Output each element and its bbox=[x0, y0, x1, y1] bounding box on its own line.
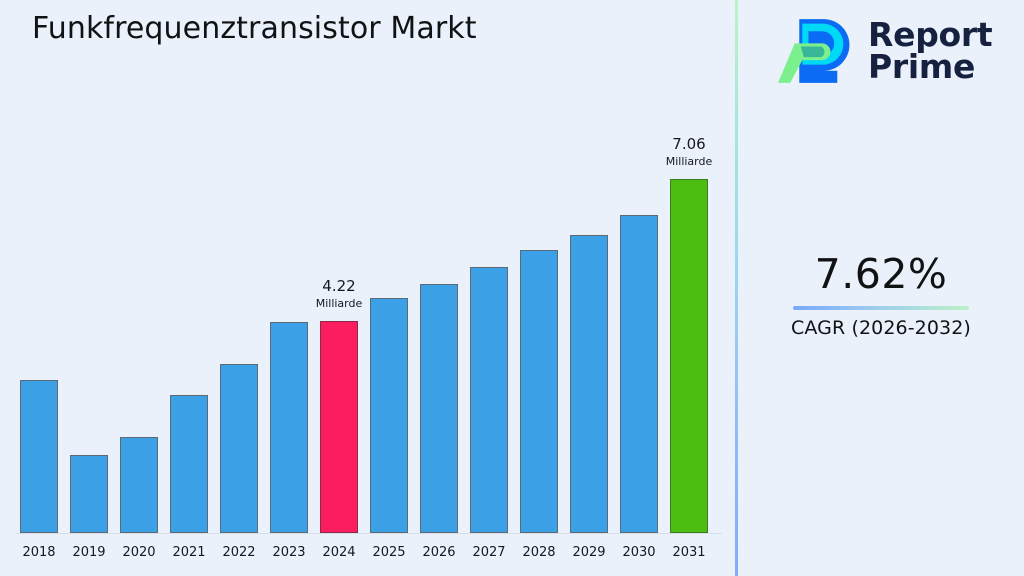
cagr-label: CAGR (2026-2032) bbox=[738, 317, 1024, 339]
brand-logo: Report Prime bbox=[778, 12, 992, 90]
bar-group-2026: 2026 bbox=[414, 0, 464, 576]
bar-2029[interactable] bbox=[570, 235, 608, 533]
bar-2031[interactable] bbox=[670, 179, 708, 533]
cagr-block: 7.62% CAGR (2026-2032) bbox=[738, 252, 1024, 339]
bar-group-2031: Milliarde7.062031 bbox=[664, 0, 714, 576]
x-axis-label-2026: 2026 bbox=[414, 545, 464, 560]
x-axis-label-2020: 2020 bbox=[114, 545, 164, 560]
chart-infographic: Funkfrequenztransistor Markt 20182019202… bbox=[0, 0, 1024, 576]
bar-group-2028: 2028 bbox=[514, 0, 564, 576]
x-axis-label-2022: 2022 bbox=[214, 545, 264, 560]
x-axis-label-2021: 2021 bbox=[164, 545, 214, 560]
x-axis-label-2023: 2023 bbox=[264, 545, 314, 560]
right-panel: Report Prime 7.62% CAGR (2026-2032) bbox=[738, 0, 1024, 576]
bar-2019[interactable] bbox=[70, 455, 108, 533]
x-axis-label-2028: 2028 bbox=[514, 545, 564, 560]
bar-group-2019: 2019 bbox=[64, 0, 114, 576]
brand-name: Report Prime bbox=[868, 19, 992, 84]
bar-2025[interactable] bbox=[370, 298, 408, 533]
bar-group-2029: 2029 bbox=[564, 0, 614, 576]
bar-unit-2031: Milliarde bbox=[664, 156, 714, 168]
x-axis-label-2030: 2030 bbox=[614, 545, 664, 560]
bar-2020[interactable] bbox=[120, 437, 158, 533]
x-axis-label-2019: 2019 bbox=[64, 545, 114, 560]
x-axis-label-2029: 2029 bbox=[564, 545, 614, 560]
bar-2026[interactable] bbox=[420, 284, 458, 533]
bar-2024[interactable] bbox=[320, 321, 358, 533]
bar-2028[interactable] bbox=[520, 250, 558, 533]
bar-group-2021: 2021 bbox=[164, 0, 214, 576]
bar-chart: 201820192020202120222023Milliarde4.22202… bbox=[0, 0, 735, 576]
cagr-divider bbox=[793, 306, 969, 310]
bar-2027[interactable] bbox=[470, 267, 508, 533]
bar-group-2024: Milliarde4.222024 bbox=[314, 0, 364, 576]
bar-group-2027: 2027 bbox=[464, 0, 514, 576]
x-axis-label-2025: 2025 bbox=[364, 545, 414, 560]
bar-group-2018: 2018 bbox=[14, 0, 64, 576]
x-axis-label-2024: 2024 bbox=[314, 545, 364, 560]
bar-group-2022: 2022 bbox=[214, 0, 264, 576]
bar-value-2031: 7.06 bbox=[664, 137, 714, 153]
bar-2023[interactable] bbox=[270, 322, 308, 533]
x-axis-label-2018: 2018 bbox=[14, 545, 64, 560]
bar-series: 201820192020202120222023Milliarde4.22202… bbox=[0, 0, 735, 576]
bar-2022[interactable] bbox=[220, 364, 258, 533]
brand-name-line2: Prime bbox=[868, 51, 992, 83]
x-axis-label-2031: 2031 bbox=[664, 545, 714, 560]
bar-group-2020: 2020 bbox=[114, 0, 164, 576]
report-prime-r-logo-icon bbox=[778, 12, 854, 90]
bar-unit-2024: Milliarde bbox=[314, 298, 364, 310]
bar-2018[interactable] bbox=[20, 380, 58, 533]
bar-value-2024: 4.22 bbox=[314, 279, 364, 295]
bar-2021[interactable] bbox=[170, 395, 208, 533]
cagr-value: 7.62% bbox=[738, 252, 1024, 297]
bar-2030[interactable] bbox=[620, 215, 658, 533]
x-axis-label-2027: 2027 bbox=[464, 545, 514, 560]
bar-group-2025: 2025 bbox=[364, 0, 414, 576]
bar-group-2023: 2023 bbox=[264, 0, 314, 576]
bar-group-2030: 2030 bbox=[614, 0, 664, 576]
